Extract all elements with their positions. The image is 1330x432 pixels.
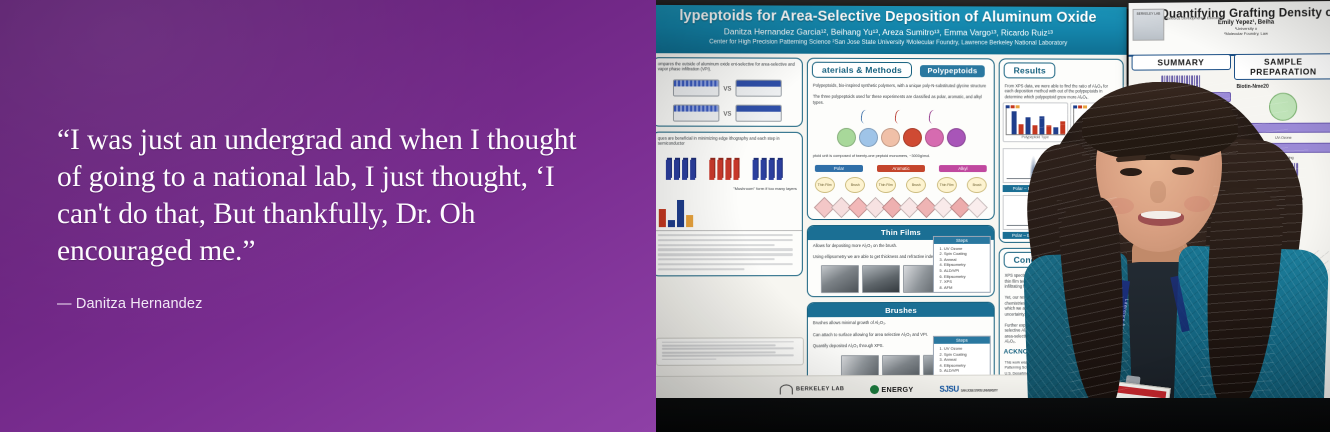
screenshot-root: “I was just an undergrad and when I thou… xyxy=(0,0,1330,432)
node-thin-film-1: Thin Film xyxy=(815,177,835,193)
chip-vpi-2 xyxy=(735,104,781,121)
references-lines xyxy=(657,338,803,365)
label-polar: Polar xyxy=(815,165,863,172)
berkeley-lab-logo: BERKELEY LAB xyxy=(780,384,844,394)
berkeley-lab-mark-icon xyxy=(780,384,793,394)
poster-secondary-berkeley-logo: BERKELEY LAB xyxy=(1133,9,1165,41)
sphere-purple xyxy=(946,128,965,147)
doe-seal-icon xyxy=(870,385,879,394)
chip-vpi xyxy=(735,79,781,96)
section-header-materials-methods: aterials & Methods xyxy=(812,62,912,78)
quote-text: “I was just an undergrad and when I thou… xyxy=(57,122,602,270)
polypeptoids-text2: The three polypeptoids used for these ex… xyxy=(808,91,994,108)
card-abstract: ompares the outside of aluminum oxide en… xyxy=(656,57,803,126)
chip-ald xyxy=(673,79,719,96)
steps-list-1: UV Ozone Spin Coating Anneal Ellipsometr… xyxy=(934,244,990,293)
label-alkyl: Alkyl xyxy=(939,165,987,172)
workforce-dev-label: Workforce Development & Education xyxy=(1164,16,1223,21)
wall-bottom xyxy=(656,398,1330,432)
photo-panel: lypeptoids for Area-Selective Deposition… xyxy=(656,0,1330,432)
chip-ald-2 xyxy=(673,104,719,121)
poster-main-column-left: ompares the outside of aluminum oxide en… xyxy=(656,57,803,399)
subsection-polypeptoids: Polypeptoids xyxy=(920,65,984,77)
card-thin-films: Thin Films Allows for depositing more Al… xyxy=(807,225,995,298)
squiggle-aromatic xyxy=(894,109,908,125)
poster-main-title: lypeptoids for Area-Selective Deposition… xyxy=(656,8,1127,27)
category-labels: Polar Aromatic Alkyl xyxy=(808,163,994,174)
card-materials-methods: aterials & Methods Polypeptoids Polypept… xyxy=(807,58,995,220)
squiggle-polar xyxy=(860,109,874,125)
fin-schematics xyxy=(656,149,802,182)
quote-attribution: — Danitza Hernandez xyxy=(57,296,602,312)
fin-red xyxy=(708,152,746,179)
schematic-ald-vpi: vs xyxy=(656,75,802,100)
label-aromatic: Aromatic xyxy=(877,165,925,172)
sjsu-label: SJSU xyxy=(939,384,958,393)
lab-photo-2 xyxy=(861,265,899,293)
person-figure: Lawrence Berkeley National Laboratory Da… xyxy=(1008,48,1330,432)
sphere-blue xyxy=(858,128,877,147)
sphere-peach xyxy=(881,128,900,147)
node-brush-3: Brush xyxy=(967,177,987,193)
step-item: AFM xyxy=(944,285,988,291)
vs-label: vs xyxy=(723,83,731,92)
node-thin-film-3: Thin Film xyxy=(937,177,957,193)
hair-fringe xyxy=(1082,82,1238,160)
poster-main-column-mid: aterials & Methods Polypeptoids Polypept… xyxy=(807,58,995,399)
section-header-brushes: Brushes xyxy=(808,303,994,317)
eye-left xyxy=(1120,168,1142,176)
steps-header-1: Steps xyxy=(934,237,990,244)
mini-bar-chart xyxy=(656,194,802,231)
fin-blue-1 xyxy=(665,152,703,179)
berkeley-lab-label: BERKELEY LAB xyxy=(796,386,844,392)
diamond-10 xyxy=(967,197,988,218)
background-body-lines xyxy=(656,231,802,276)
fin-blue-2 xyxy=(752,152,790,179)
peptoid-note: ptoid unit is composed of twenty-one pep… xyxy=(808,151,994,163)
eye-right xyxy=(1172,167,1194,175)
node-thin-film-2: Thin Film xyxy=(876,177,896,193)
abstract-text: ompares the outside of aluminum oxide en… xyxy=(656,58,802,75)
sjsu-logo: SJSUSAN JOSE STATE UNIVERSITY xyxy=(939,384,997,393)
schematic-ald-vpi-2: vs xyxy=(656,100,802,125)
background-text: ques are beneficial in minimizing edge i… xyxy=(656,132,802,149)
squiggle-alkyl xyxy=(928,110,942,126)
card-background: ques are beneficial in minimizing edge i… xyxy=(656,131,803,276)
poster-main-affiliations: Center for High Precision Patterning Sci… xyxy=(656,37,1127,48)
nose xyxy=(1150,181,1166,203)
sphere-green xyxy=(836,128,855,147)
card-references xyxy=(656,337,804,366)
mushroom-label: "Mushroom" form if too many layers xyxy=(656,183,802,195)
diamond-row xyxy=(808,196,994,219)
molecule-spheres xyxy=(808,124,994,151)
vs-label-2: vs xyxy=(723,108,731,117)
polypeptoids-text: Polypeptoids, bio-inspired synthetic pol… xyxy=(808,80,994,92)
quote-block: “I was just an undergrad and when I thou… xyxy=(57,122,602,312)
doe-label: ENERGY xyxy=(881,384,913,393)
node-brush-1: Brush xyxy=(845,177,865,193)
quote-panel: “I was just an undergrad and when I thou… xyxy=(0,0,656,432)
lab-photo-1 xyxy=(820,265,858,293)
steps-box-thin-films: Steps UV Ozone Spin Coating Anneal Ellip… xyxy=(933,236,991,294)
hair-front-right xyxy=(1198,186,1285,410)
cheek-right xyxy=(1184,196,1210,212)
doe-logo: ENERGY xyxy=(870,384,913,393)
sphere-red xyxy=(902,128,921,147)
poster-secondary-affiliation-2: ²Molecular Foundry, Law xyxy=(1156,30,1330,36)
tree-nodes: Thin Film Brush Thin Film Brush Thin Fil… xyxy=(808,174,994,196)
mouth-smiling xyxy=(1138,211,1184,226)
node-brush-2: Brush xyxy=(906,177,926,193)
brushes-b1: Brushes allows minimal growth of Al₂O₃. xyxy=(808,317,994,329)
squiggle-row xyxy=(808,108,994,124)
sphere-pink xyxy=(924,128,943,147)
